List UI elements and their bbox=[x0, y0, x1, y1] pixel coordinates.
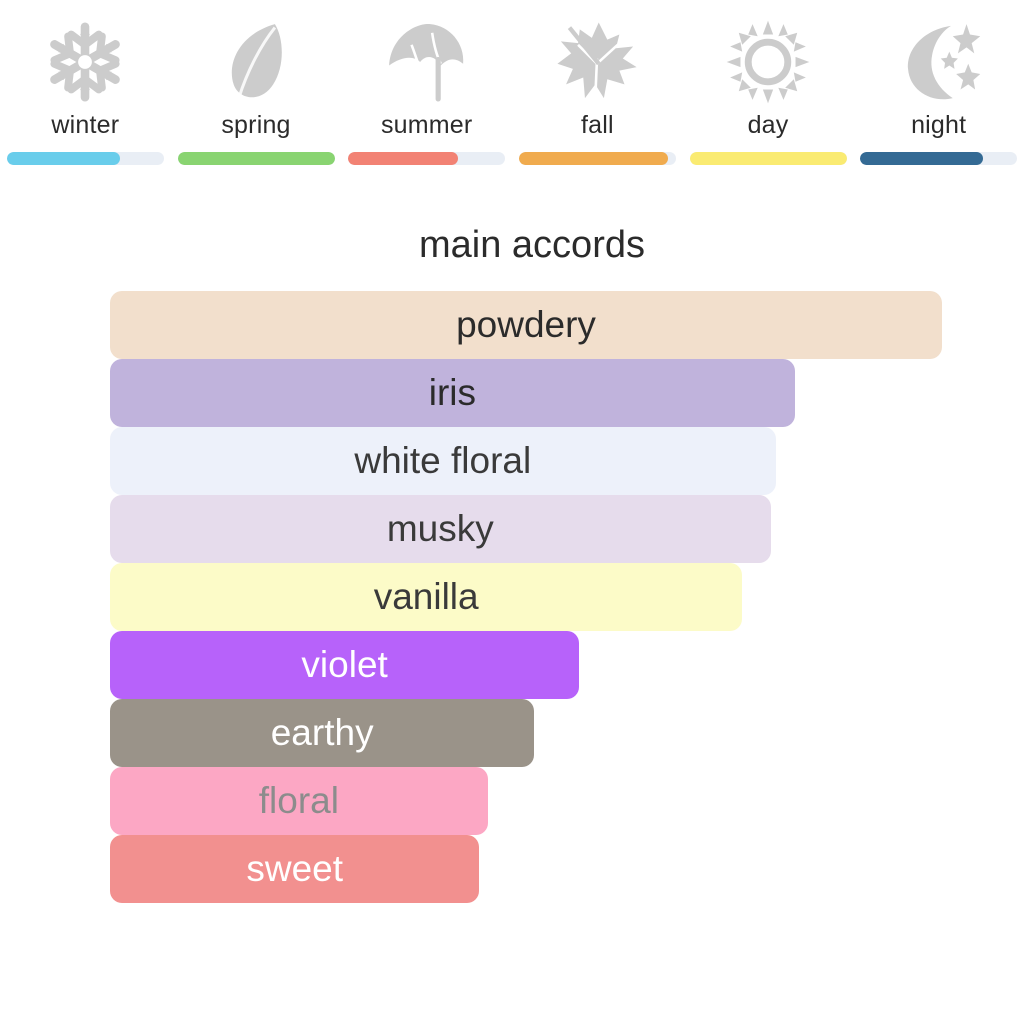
accord-bar-list: powderyiriswhite floralmuskyvanillaviole… bbox=[110, 291, 970, 903]
season-item-day[interactable]: day bbox=[683, 0, 854, 190]
umbrella-icon bbox=[377, 18, 477, 106]
accord-label: musky bbox=[387, 508, 494, 550]
season-item-summer[interactable]: summer bbox=[341, 0, 512, 190]
season-label: winter bbox=[51, 110, 119, 140]
season-item-winter[interactable]: winter bbox=[0, 0, 171, 190]
season-meter-fill bbox=[860, 152, 982, 165]
season-meter-fill bbox=[690, 152, 847, 165]
accord-bar: sweet bbox=[110, 835, 479, 903]
season-item-night[interactable]: night bbox=[853, 0, 1024, 190]
accord-label: powdery bbox=[456, 304, 596, 346]
season-meter-spring bbox=[178, 152, 335, 165]
accord-bar: vanilla bbox=[110, 563, 742, 631]
moon-stars-icon bbox=[889, 18, 989, 106]
season-label: spring bbox=[221, 110, 290, 140]
accord-label: violet bbox=[301, 644, 387, 686]
season-label: day bbox=[748, 110, 789, 140]
season-label: fall bbox=[581, 110, 614, 140]
accord-label: sweet bbox=[246, 848, 343, 890]
season-meter-fill bbox=[178, 152, 335, 165]
accord-label: vanilla bbox=[374, 576, 479, 618]
accord-bar: white floral bbox=[110, 427, 776, 495]
season-meter-summer bbox=[348, 152, 505, 165]
sun-icon bbox=[718, 18, 818, 106]
main-accords-section: main accords powderyiriswhite floralmusk… bbox=[0, 196, 1024, 936]
accord-bar: earthy bbox=[110, 699, 534, 767]
snowflake-icon bbox=[35, 18, 135, 106]
main-accords-title: main accords bbox=[0, 196, 1024, 268]
maple-leaf-icon bbox=[547, 18, 647, 106]
accord-label: floral bbox=[259, 780, 339, 822]
season-meter-night bbox=[860, 152, 1017, 165]
accord-label: earthy bbox=[271, 712, 374, 754]
seasons-strip: winterspringsummerfalldaynight bbox=[0, 0, 1024, 190]
accord-bar: musky bbox=[110, 495, 771, 563]
season-meter-winter bbox=[7, 152, 164, 165]
season-item-fall[interactable]: fall bbox=[512, 0, 683, 190]
leaf-icon bbox=[206, 18, 306, 106]
season-label: summer bbox=[381, 110, 472, 140]
accord-label: white floral bbox=[354, 440, 531, 482]
season-item-spring[interactable]: spring bbox=[171, 0, 342, 190]
season-meter-fill bbox=[7, 152, 120, 165]
season-meter-fill bbox=[519, 152, 668, 165]
perfume-profile-panel: winterspringsummerfalldaynight main acco… bbox=[0, 0, 1024, 1024]
accord-bar: violet bbox=[110, 631, 579, 699]
season-meter-day bbox=[690, 152, 847, 165]
season-meter-fall bbox=[519, 152, 676, 165]
season-meter-fill bbox=[348, 152, 458, 165]
accord-bar: iris bbox=[110, 359, 795, 427]
season-label: night bbox=[911, 110, 966, 140]
accord-bar: powdery bbox=[110, 291, 942, 359]
accord-label: iris bbox=[429, 372, 476, 414]
accord-bar: floral bbox=[110, 767, 488, 835]
